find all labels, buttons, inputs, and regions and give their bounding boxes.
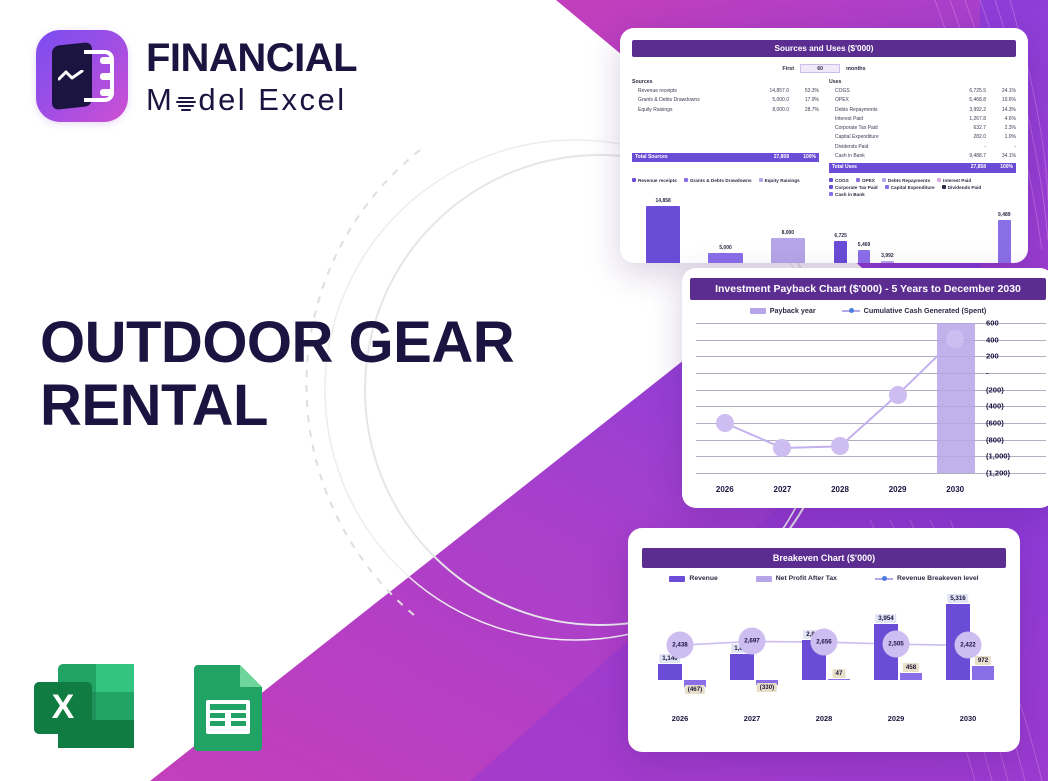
row-value: 5,468.8 (942, 96, 986, 105)
table-row: Capital Expenditure 282.0 1.0% (829, 133, 1016, 142)
file-format-icons: X (30, 660, 296, 752)
net-profit-value-label: (330) (757, 683, 777, 692)
logo-lines-icon (84, 50, 114, 102)
table-row: COGS 6,725.5 24.1% (829, 87, 1016, 96)
breakeven-plot-area: 1,140(467)2,43820261,848(330)2,69720272,… (644, 592, 1004, 708)
row-pct: 4.6% (986, 115, 1016, 124)
breakeven-panel: Breakeven Chart ($'000) Revenue Net Prof… (628, 528, 1020, 752)
google-sheets-icon (188, 660, 296, 752)
bar (834, 241, 847, 263)
gear-icon (175, 88, 197, 110)
row-value: 6,725.5 (942, 87, 986, 96)
bar (708, 253, 742, 263)
net-profit-bar (900, 673, 922, 680)
row-label: Revenue receipts (632, 87, 745, 96)
sources-column: Sources Revenue receipts 14,857.6 53.3% … (632, 79, 819, 173)
bar (771, 238, 805, 263)
legend-label: Payback year (770, 306, 816, 315)
y-axis-tick-label: 600 (986, 319, 1044, 328)
breakeven-data-point: 2,697 (739, 628, 766, 655)
spacer (632, 115, 819, 133)
legend-item: OPEX (856, 178, 875, 183)
legend-label: Equity Raisings (765, 178, 800, 183)
bar-value-label: 9,489 (998, 212, 1011, 218)
legend-swatch (829, 185, 833, 189)
first-months-control[interactable]: First 60 months (620, 64, 1028, 73)
legend-swatch (632, 178, 636, 182)
bar (881, 261, 894, 263)
row-pct: 28.7% (789, 106, 819, 115)
brand-logo: FINANCIAL M del Excel (36, 30, 357, 122)
row-value: 5,000.0 (745, 96, 789, 105)
legend-item: Corporate Tax Paid (829, 185, 878, 190)
net-profit-value-label: 972 (975, 656, 991, 665)
legend-item: Debts Repayments (882, 178, 930, 183)
legend-swatch (882, 178, 886, 182)
row-value: 1,267.8 (942, 115, 986, 124)
total-label: Total Uses (829, 163, 942, 173)
row-value: 14,857.6 (745, 87, 789, 96)
legend-item-net-profit: Net Profit After Tax (756, 575, 837, 582)
x-axis-tick-label: 2027 (773, 485, 791, 494)
row-label: Debts Repayments (829, 106, 942, 115)
legend-label: Revenue Breakeven level (897, 575, 979, 582)
row-label: OPEX (829, 96, 942, 105)
y-axis-tick-label: 200 (986, 352, 1044, 361)
legend-item: Interest Paid (937, 178, 971, 183)
row-label: Dividends Paid (829, 143, 942, 152)
revenue-value-label: 3,954 (875, 614, 896, 623)
row-label: Equity Raisings (632, 106, 745, 115)
legend-item: Equity Raisings (759, 178, 800, 183)
brand-name-line1: FINANCIAL (146, 38, 357, 78)
spacer (632, 133, 819, 151)
total-value: 27,858 (942, 163, 986, 173)
x-axis-tick-label: 2026 (672, 714, 688, 723)
uses-header: Uses (829, 79, 1016, 85)
sources-chart-plot: 14,8585,0008,000 (632, 189, 819, 264)
uses-bar-chart: COGSOPEXDebts RepaymentsInterest PaidCor… (829, 178, 1016, 264)
y-axis-tick-label: 400 (986, 335, 1044, 344)
table-row: Revenue receipts 14,857.6 53.3% (632, 87, 819, 96)
legend-item: Grants & Debts Drawdowns (684, 178, 752, 183)
x-axis-tick-label: 2027 (744, 714, 760, 723)
logo-wave-icon (58, 70, 85, 82)
legend-swatch (829, 192, 833, 196)
table-row: Dividends Paid - - (829, 143, 1016, 152)
legend-item-breakeven-level: Revenue Breakeven level (875, 575, 979, 582)
legend-swatch (885, 185, 889, 189)
table-row: OPEX 5,468.8 19.6% (829, 96, 1016, 105)
sources-header: Sources (632, 79, 819, 85)
row-pct: 1.0% (986, 133, 1016, 142)
y-axis-tick-label: (200) (986, 385, 1044, 394)
table-row: Debts Repayments 3,992.2 14.3% (829, 106, 1016, 115)
bar (646, 206, 680, 263)
x-axis-tick-label: 2029 (889, 485, 907, 494)
uses-chart-plot: 6,7255,4693,9921,26863328209,489 (829, 203, 1016, 264)
legend-item: Dividends Paid (942, 185, 982, 190)
total-pct: 100% (986, 163, 1016, 173)
total-uses-row: Total Uses 27,858 100% (829, 163, 1016, 173)
bar-value-label: 5,469 (858, 242, 871, 248)
total-pct: 100% (789, 153, 819, 163)
row-value: 632.7 (942, 124, 986, 133)
legend-label: Corporate Tax Paid (835, 185, 878, 190)
bar-value-label: 3,992 (881, 253, 894, 259)
payback-panel-title: Investment Payback Chart ($'000) - 5 Yea… (690, 278, 1046, 300)
bar-value-label: 8,000 (782, 230, 795, 236)
data-point (716, 414, 734, 432)
net-profit-bar (972, 666, 994, 680)
x-axis-tick-label: 2026 (716, 485, 734, 494)
row-label: Grants & Debts Drawdowns (632, 96, 745, 105)
table-row: Interest Paid 1,267.8 4.6% (829, 115, 1016, 124)
microsoft-excel-icon: X (30, 660, 138, 752)
legend-label: Cash in Bank (835, 192, 865, 197)
breakeven-data-point: 2,422 (955, 632, 982, 659)
svg-text:X: X (52, 688, 75, 726)
legend-swatch (750, 308, 766, 314)
legend-swatch (756, 576, 772, 582)
x-axis-tick-label: 2028 (831, 485, 849, 494)
bar-value-label: 14,858 (656, 198, 671, 204)
legend-item-cumulative-cash: Cumulative Cash Generated (Spent) (842, 306, 987, 315)
brand-line2-post: del Excel (198, 84, 346, 115)
legend-label: Cumulative Cash Generated (Spent) (864, 306, 987, 315)
legend-label: Revenue receipts (638, 178, 677, 183)
row-value: - (942, 143, 986, 152)
row-label: COGS (829, 87, 942, 96)
legend-item: Capital Expenditure (885, 185, 935, 190)
brand-line2-pre: M (146, 84, 174, 115)
x-axis-tick-label: 2028 (816, 714, 832, 723)
legend-label: COGS (835, 178, 849, 183)
row-label: Interest Paid (829, 115, 942, 124)
row-value: 8,000.0 (745, 106, 789, 115)
y-axis-tick-label: (400) (986, 402, 1044, 411)
uses-chart-legend: COGSOPEXDebts RepaymentsInterest PaidCor… (829, 178, 1016, 199)
breakeven-chart-legend: Revenue Net Profit After Tax Revenue Bre… (628, 575, 1020, 582)
breakeven-data-point: 2,656 (811, 629, 838, 656)
legend-swatch (684, 178, 688, 182)
revenue-bar (730, 654, 754, 680)
total-sources-row: Total Sources 27,858 100% (632, 153, 819, 163)
breakeven-panel-title: Breakeven Chart ($'000) (642, 548, 1006, 568)
investment-payback-panel: Investment Payback Chart ($'000) - 5 Yea… (682, 268, 1048, 508)
legend-label: OPEX (862, 178, 875, 183)
sources-chart-legend: Revenue receiptsGrants & Debts Drawdowns… (632, 178, 819, 185)
legend-item-revenue: Revenue (669, 575, 717, 582)
page-title: OUTDOOR GEAR RENTAL (40, 312, 560, 437)
net-profit-value-label: (467) (685, 685, 705, 694)
table-row: Equity Raisings 8,000.0 28.7% (632, 106, 819, 115)
bar (998, 220, 1011, 263)
legend-swatch (856, 178, 860, 182)
legend-line-swatch (875, 578, 893, 580)
row-pct: 24.1% (986, 87, 1016, 96)
sources-panel-title: Sources and Uses ($'000) (632, 40, 1016, 57)
breakeven-data-point: 2,505 (883, 631, 910, 658)
y-axis-tick-label: - (986, 369, 1044, 378)
legend-label: Dividends Paid (948, 185, 982, 190)
bar-value-label: 5,000 (719, 245, 732, 251)
legend-label: Debts Repayments (888, 178, 930, 183)
legend-label: Revenue (689, 575, 717, 582)
legend-label: Interest Paid (943, 178, 971, 183)
y-axis-tick-label: (800) (986, 435, 1044, 444)
legend-swatch (937, 178, 941, 182)
table-row: Cash in Bank 9,488.7 34.1% (829, 152, 1016, 161)
legend-item-payback-year: Payback year (750, 306, 816, 315)
payback-chart-legend: Payback year Cumulative Cash Generated (… (682, 306, 1048, 315)
row-pct: 14.3% (986, 106, 1016, 115)
payback-plot-area: 600400200-(200)(400)(600)(800)(1,000)(1,… (696, 323, 984, 473)
row-value: 3,992.2 (942, 106, 986, 115)
sources-bar-chart: Revenue receiptsGrants & Debts Drawdowns… (632, 178, 819, 264)
table-row: Corporate Tax Paid 632.7 2.3% (829, 124, 1016, 133)
x-axis-tick-label: 2030 (960, 714, 976, 723)
uses-column: Uses COGS 6,725.5 24.1% OPEX 5,468.8 19.… (829, 79, 1016, 173)
row-pct: - (986, 143, 1016, 152)
bar-value-label: 6,725 (834, 233, 847, 239)
y-axis-tick-label: (600) (986, 419, 1044, 428)
revenue-bar (658, 664, 682, 680)
total-value: 27,858 (745, 153, 789, 163)
row-pct: 17.9% (789, 96, 819, 105)
net-profit-value-label: 47 (833, 669, 846, 678)
y-axis-tick-label: (1,200) (986, 469, 1044, 478)
row-label: Capital Expenditure (829, 133, 942, 142)
legend-label: Grants & Debts Drawdowns (690, 178, 752, 183)
first-label: First (782, 66, 794, 72)
legend-label: Capital Expenditure (891, 185, 935, 190)
legend-swatch (829, 178, 833, 182)
row-pct: 2.3% (986, 124, 1016, 133)
brand-name-line2: M del Excel (146, 84, 357, 115)
total-label: Total Sources (632, 153, 745, 163)
legend-item: Cash in Bank (829, 192, 865, 197)
months-label: months (846, 66, 865, 72)
row-label: Cash in Bank (829, 152, 942, 161)
data-point (773, 439, 791, 457)
logo-icon (36, 30, 128, 122)
legend-swatch (669, 576, 685, 582)
data-point (831, 437, 849, 455)
legend-swatch (942, 185, 946, 189)
y-axis-tick-label: (1,000) (986, 452, 1044, 461)
x-axis-tick-label: 2029 (888, 714, 904, 723)
legend-item: COGS (829, 178, 849, 183)
months-input[interactable]: 60 (800, 64, 840, 73)
revenue-value-label: 5,316 (947, 594, 968, 603)
bar (858, 250, 871, 263)
data-point (889, 386, 907, 404)
legend-label: Net Profit After Tax (776, 575, 837, 582)
row-value: 282.0 (942, 133, 986, 142)
legend-item: Revenue receipts (632, 178, 677, 183)
legend-line-swatch (842, 310, 860, 312)
table-row: Grants & Debts Drawdowns 5,000.0 17.9% (632, 96, 819, 105)
row-pct: 19.6% (986, 96, 1016, 105)
row-label: Corporate Tax Paid (829, 124, 942, 133)
net-profit-value-label: 458 (903, 663, 919, 672)
row-value: 9,488.7 (942, 152, 986, 161)
sources-and-uses-panel: Sources and Uses ($'000) First 60 months… (620, 28, 1028, 263)
row-pct: 34.1% (986, 152, 1016, 161)
data-point (946, 330, 964, 348)
legend-swatch (759, 178, 763, 182)
breakeven-data-point: 2,438 (667, 632, 694, 659)
net-profit-bar (828, 679, 850, 680)
x-axis-tick-label: 2030 (946, 485, 964, 494)
row-pct: 53.3% (789, 87, 819, 96)
